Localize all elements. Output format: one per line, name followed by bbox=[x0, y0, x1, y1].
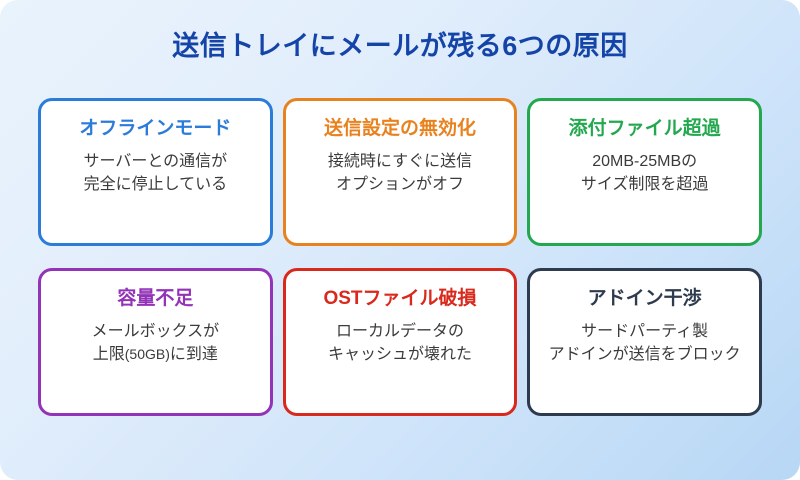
cause-card-body: ローカルデータの キャッシュが壊れた bbox=[328, 320, 472, 366]
cause-card-body: メールボックスが 上限(50GB)に到達 bbox=[92, 320, 220, 366]
cause-card-offline-mode: オフラインモード サーバーとの通信が 完全に停止している bbox=[38, 98, 273, 246]
cause-card-grid: オフラインモード サーバーとの通信が 完全に停止している 送信設定の無効化 接続… bbox=[38, 98, 762, 416]
cause-card-ost-corruption: OSTファイル破損 ローカルデータの キャッシュが壊れた bbox=[283, 268, 518, 416]
cause-card-heading: アドイン干渉 bbox=[588, 287, 702, 311]
cause-card-body: サーバーとの通信が 完全に停止している bbox=[83, 150, 227, 196]
cause-card-heading: 容量不足 bbox=[117, 287, 193, 311]
cause-card-storage-full: 容量不足 メールボックスが 上限(50GB)に到達 bbox=[38, 268, 273, 416]
cause-card-body: 20MB-25MBの サイズ制限を超過 bbox=[581, 150, 709, 196]
cause-card-attachment-oversize: 添付ファイル超過 20MB-25MBの サイズ制限を超過 bbox=[527, 98, 762, 246]
cause-card-body: サードパーティ製 アドインが送信をブロック bbox=[549, 320, 741, 366]
cause-card-addin-interference: アドイン干渉 サードパーティ製 アドインが送信をブロック bbox=[527, 268, 762, 416]
cause-card-send-setting-disabled: 送信設定の無効化 接続時にすぐに送信 オプションがオフ bbox=[283, 98, 518, 246]
cause-card-heading: 添付ファイル超過 bbox=[569, 117, 721, 141]
page-title: 送信トレイにメールが残る6つの原因 bbox=[0, 24, 800, 63]
cause-card-heading: OSTファイル破損 bbox=[323, 287, 476, 311]
cause-card-heading: オフラインモード bbox=[79, 117, 231, 141]
cause-card-body: 接続時にすぐに送信 オプションがオフ bbox=[328, 150, 472, 196]
infographic-canvas: 送信トレイにメールが残る6つの原因 オフラインモード サーバーとの通信が 完全に… bbox=[0, 0, 800, 480]
cause-card-heading: 送信設定の無効化 bbox=[324, 117, 476, 141]
